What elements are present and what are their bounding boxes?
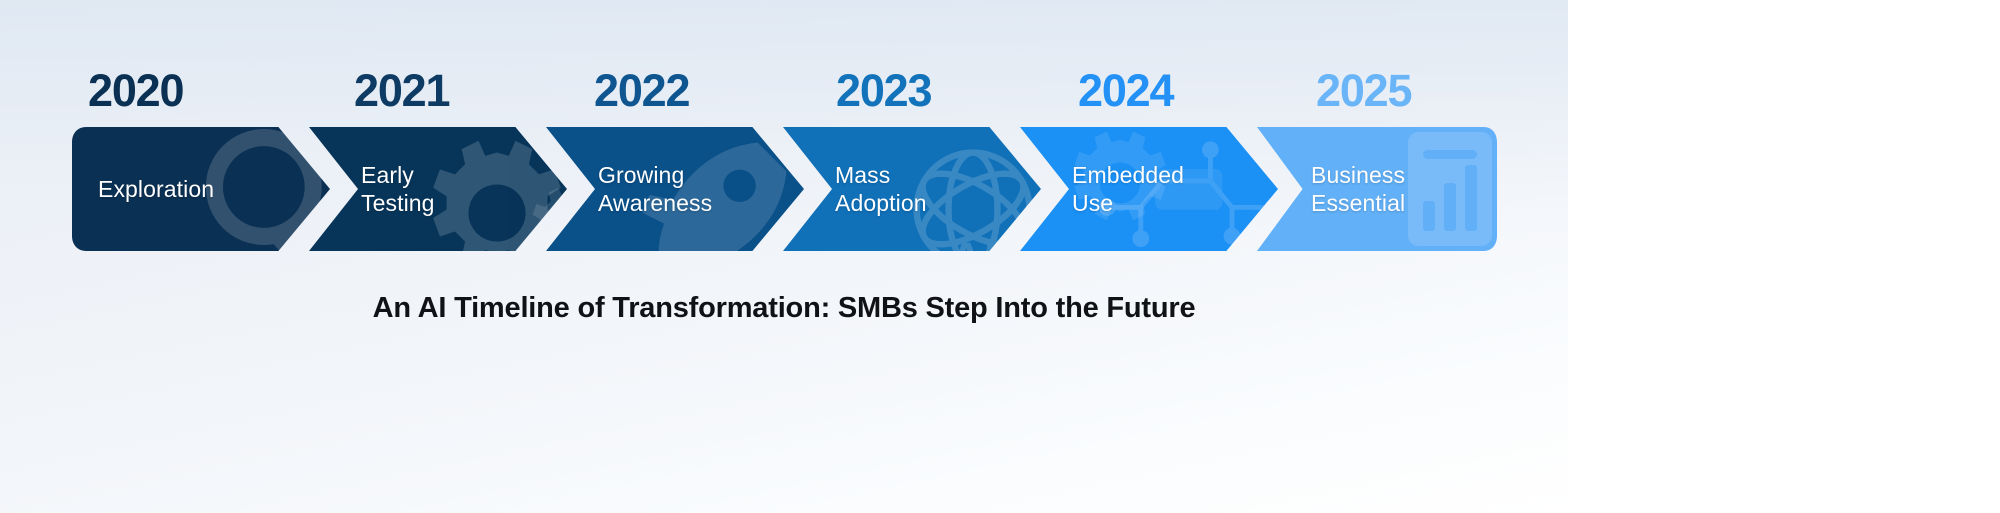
year-label-2023: 2023: [836, 68, 931, 113]
page-title: An AI Timeline of Transformation: SMBs S…: [0, 292, 1568, 325]
timeline-step-2023[interactable]: AI Mass Adoption: [783, 127, 1041, 251]
step-label-2022: Growing Awareness: [598, 127, 712, 251]
timeline-step-2024[interactable]: Embedded Use: [1020, 127, 1278, 251]
timeline-step-2025[interactable]: Business Essential: [1257, 127, 1497, 251]
timeline-step-2022[interactable]: Growing Awareness: [546, 127, 804, 251]
year-label-2020: 2020: [88, 68, 183, 113]
year-label-2021: 2021: [354, 68, 449, 113]
year-label-2025: 2025: [1316, 68, 1411, 113]
step-label-2020: Exploration: [98, 127, 214, 251]
step-label-2021: Early Testing: [361, 127, 435, 251]
step-label-2023: Mass Adoption: [835, 127, 927, 251]
timeline-artwork: 2020 2021 2022 2023 2024 2025 Explorati: [0, 0, 1568, 513]
timeline-band: Exploration: [72, 127, 1497, 251]
timeline-step-2020[interactable]: Exploration: [72, 127, 330, 251]
year-label-2024: 2024: [1078, 68, 1173, 113]
step-label-2025: Business Essential: [1311, 127, 1405, 251]
year-label-2022: 2022: [594, 68, 689, 113]
infographic-stage: 2020 2021 2022 2023 2024 2025 Explorati: [0, 0, 2000, 513]
step-label-2024: Embedded Use: [1072, 127, 1184, 251]
timeline-step-2021[interactable]: Early Testing: [309, 127, 567, 251]
segment-fill-2021: [309, 127, 567, 251]
